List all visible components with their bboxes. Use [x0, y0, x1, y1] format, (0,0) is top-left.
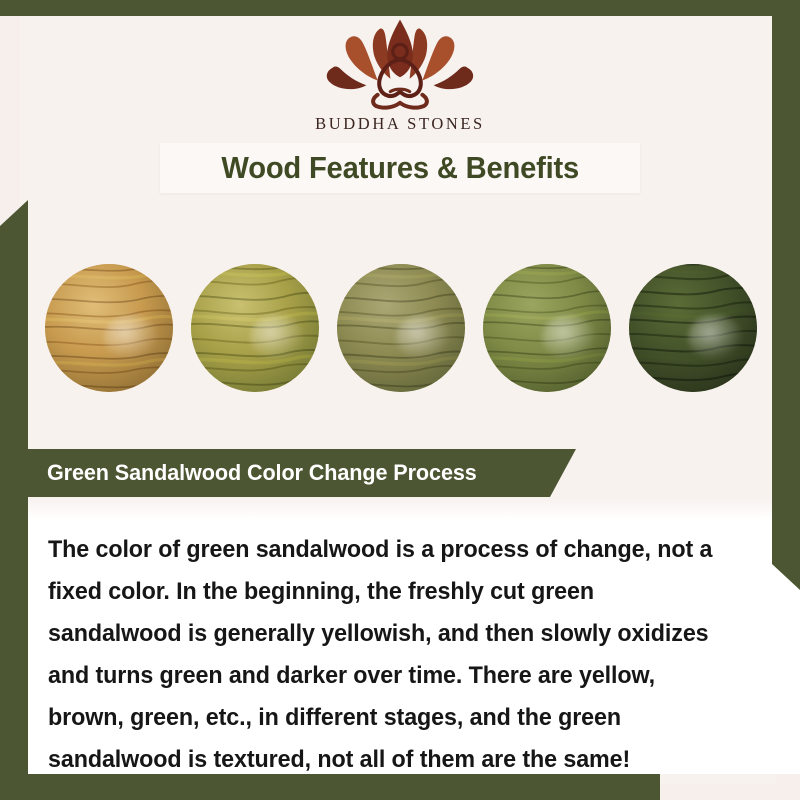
frame-band-bottom [0, 774, 660, 800]
bead-stage-5 [629, 264, 757, 392]
description-line: fixed color. In the beginning, the fresh… [48, 571, 744, 613]
page-title: Wood Features & Benefits [221, 150, 579, 186]
bead-gloss [688, 315, 742, 359]
description-line: The color of green sandalwood is a proce… [48, 529, 744, 571]
bead-gloss [104, 315, 158, 359]
brand-wordmark: BUDDHA STONES [0, 114, 800, 134]
description-card: The color of green sandalwood is a proce… [20, 497, 800, 774]
bead-gloss [250, 315, 304, 359]
section-header-title: Green Sandalwood Color Change Process [47, 460, 477, 486]
bead-gloss [542, 315, 596, 359]
description-line: and turns green and darker over time. Th… [48, 655, 744, 697]
frame-band-left [0, 200, 28, 800]
description-line: brown, green, etc., in different stages,… [48, 697, 744, 739]
lotus-meditation-figure-icon [320, 18, 480, 110]
bead-stage-4 [483, 264, 611, 392]
description-text: The color of green sandalwood is a proce… [48, 529, 744, 781]
bead-stage-3 [337, 264, 465, 392]
section-header-banner: Green Sandalwood Color Change Process [20, 449, 576, 497]
frame-band-right [772, 0, 800, 590]
bead-stage-2 [191, 264, 319, 392]
frame-band-top [0, 0, 800, 16]
card-top-fade [20, 497, 800, 519]
infographic-card: BUDDHA STONES Wood Features & Benefits [0, 0, 800, 800]
bead-gallery [45, 252, 757, 404]
bead-stage-1 [45, 264, 173, 392]
bead-gloss [396, 315, 450, 359]
description-line: sandalwood is generally yellowish, and t… [48, 613, 744, 655]
brand-logo: BUDDHA STONES [0, 18, 800, 134]
title-banner: Wood Features & Benefits [160, 143, 640, 193]
